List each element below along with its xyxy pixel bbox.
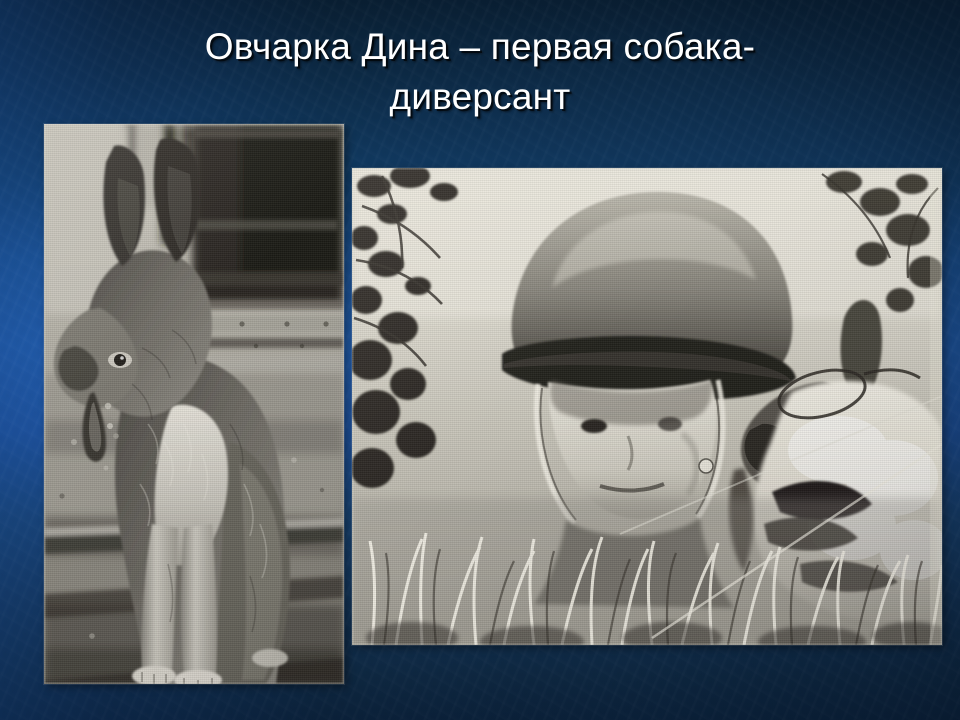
- photo-left-artwork: [44, 124, 344, 684]
- presentation-slide: Овчарка Дина – первая собака- диверсант: [0, 0, 960, 720]
- photo-right-soldier-and-dog: [352, 168, 942, 645]
- photo-right-artwork: [352, 168, 942, 645]
- photo-left-dog: [44, 124, 344, 684]
- slide-title: Овчарка Дина – первая собака- диверсант: [0, 22, 960, 122]
